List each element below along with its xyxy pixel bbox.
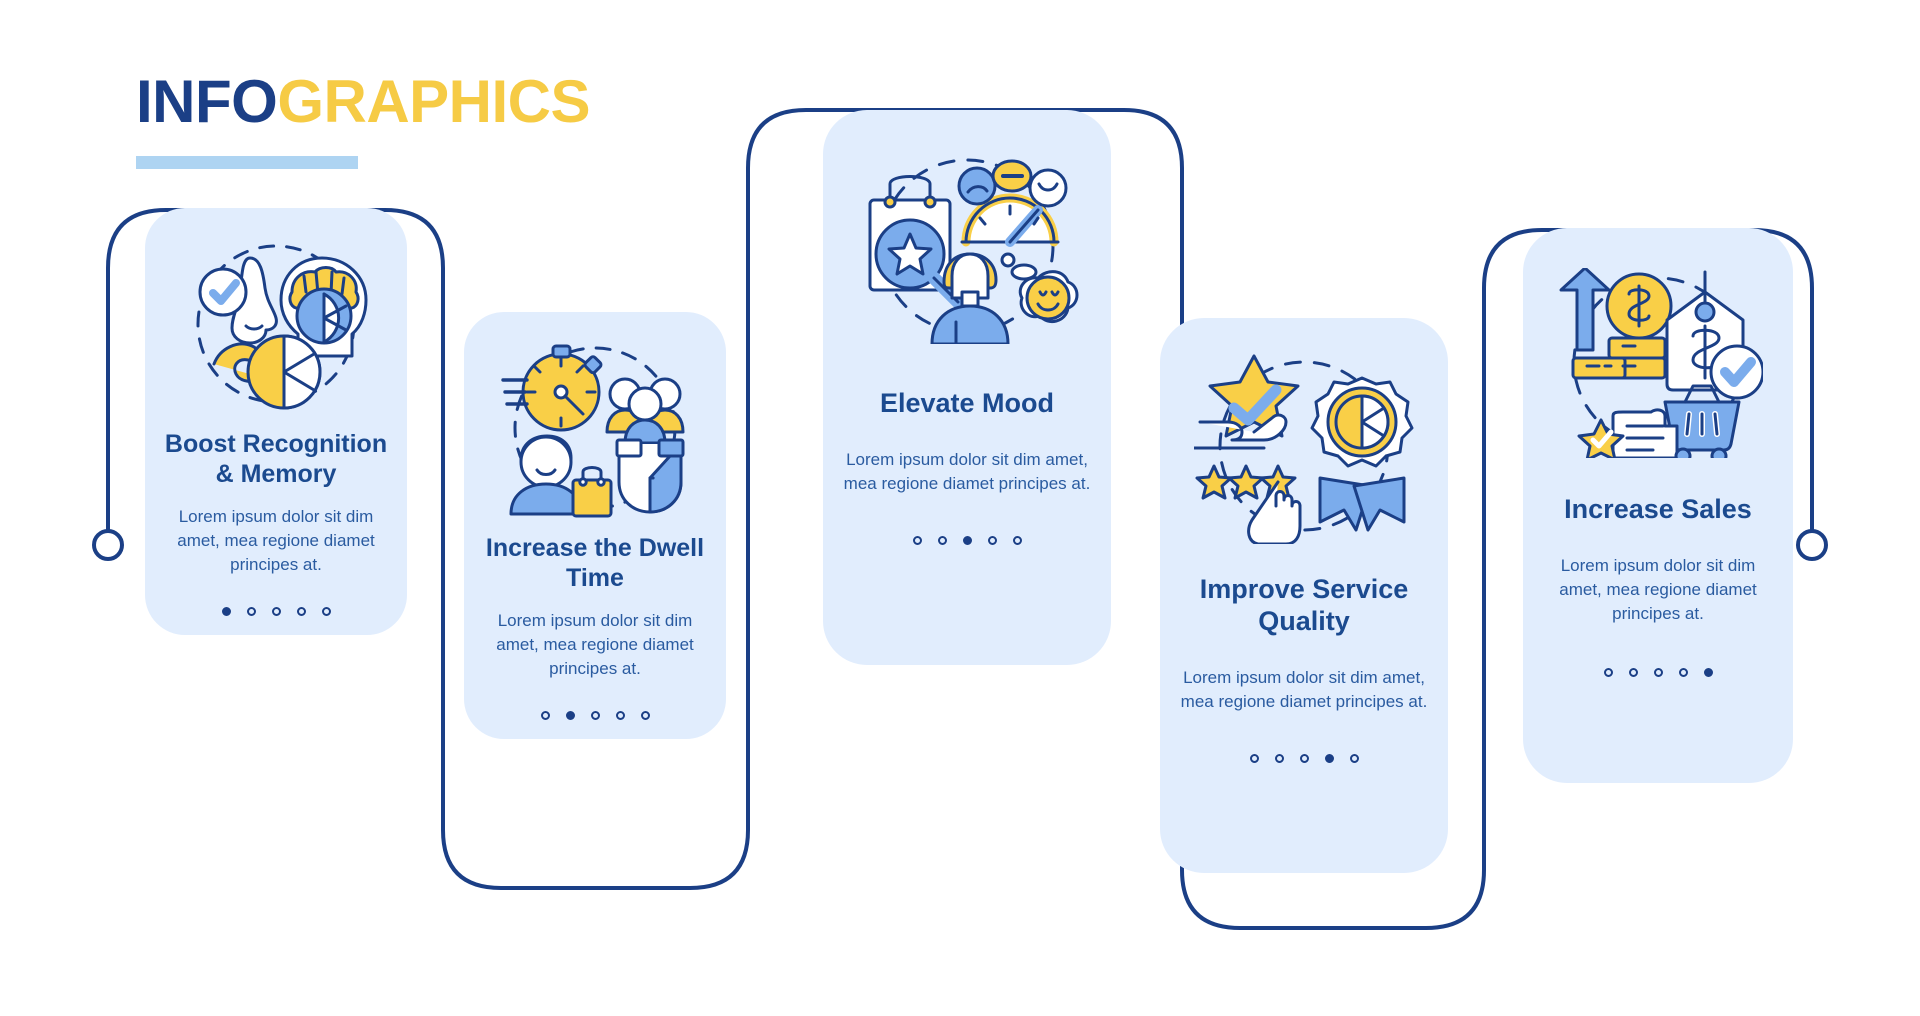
step-card-4[interactable]: Improve Service Quality Lorem ipsum dolo… bbox=[1160, 318, 1448, 873]
card-1-step-dots[interactable] bbox=[214, 607, 339, 616]
step-card-3[interactable]: Elevate Mood Lorem ipsum dolor sit dim a… bbox=[823, 110, 1111, 665]
step-dot-3[interactable] bbox=[1300, 754, 1309, 763]
card-3-illustration bbox=[852, 154, 1082, 344]
step-dot-4[interactable] bbox=[1679, 668, 1688, 677]
step-dot-1[interactable] bbox=[913, 536, 922, 545]
step-dot-4[interactable] bbox=[1325, 754, 1334, 763]
card-5-step-dots[interactable] bbox=[1596, 668, 1721, 677]
step-dot-2[interactable] bbox=[247, 607, 256, 616]
step-dot-2[interactable] bbox=[1275, 754, 1284, 763]
step-dot-1[interactable] bbox=[222, 607, 231, 616]
step-dot-4[interactable] bbox=[297, 607, 306, 616]
card-2-title: Increase the Dwell Time bbox=[464, 534, 726, 593]
step-dot-1[interactable] bbox=[1250, 754, 1259, 763]
step-dot-5[interactable] bbox=[1350, 754, 1359, 763]
title-underline bbox=[136, 156, 358, 169]
card-4-illustration bbox=[1194, 354, 1414, 544]
step-dot-4[interactable] bbox=[988, 536, 997, 545]
page-title-primary: INFO bbox=[136, 68, 277, 135]
card-5-body: Lorem ipsum dolor sit dim amet, mea regi… bbox=[1523, 554, 1793, 626]
card-4-step-dots[interactable] bbox=[1242, 754, 1367, 763]
connector-end-node bbox=[1798, 531, 1826, 559]
step-dot-3[interactable] bbox=[272, 607, 281, 616]
step-dot-5[interactable] bbox=[322, 607, 331, 616]
step-dot-2[interactable] bbox=[1629, 668, 1638, 677]
step-dot-5[interactable] bbox=[1704, 668, 1713, 677]
card-1-body: Lorem ipsum dolor sit dim amet, mea regi… bbox=[145, 505, 407, 577]
card-2-body: Lorem ipsum dolor sit dim amet, mea regi… bbox=[464, 609, 726, 681]
card-2-illustration bbox=[495, 340, 695, 520]
card-4-body: Lorem ipsum dolor sit dim amet, mea regi… bbox=[1160, 666, 1448, 714]
step-dot-3[interactable] bbox=[591, 711, 600, 720]
page-title: INFOGRAPHICS bbox=[136, 72, 590, 132]
step-dot-5[interactable] bbox=[1013, 536, 1022, 545]
card-3-step-dots[interactable] bbox=[905, 536, 1030, 545]
card-5-illustration bbox=[1553, 268, 1763, 458]
connector-start-node bbox=[94, 531, 122, 559]
step-dot-3[interactable] bbox=[1654, 668, 1663, 677]
step-dot-2[interactable] bbox=[938, 536, 947, 545]
step-dot-1[interactable] bbox=[1604, 668, 1613, 677]
step-dot-4[interactable] bbox=[616, 711, 625, 720]
page-header: INFOGRAPHICS bbox=[136, 72, 590, 169]
step-dot-3[interactable] bbox=[963, 536, 972, 545]
card-2-step-dots[interactable] bbox=[533, 711, 658, 720]
step-card-5[interactable]: Increase Sales Lorem ipsum dolor sit dim… bbox=[1523, 228, 1793, 783]
infographic-canvas: INFOGRAPHICS bbox=[0, 0, 1920, 1016]
card-5-title: Increase Sales bbox=[1550, 494, 1766, 526]
card-1-title: Boost Recognition & Memory bbox=[145, 430, 407, 489]
card-3-title: Elevate Mood bbox=[866, 388, 1068, 420]
step-dot-1[interactable] bbox=[541, 711, 550, 720]
step-card-2[interactable]: Increase the Dwell Time Lorem ipsum dolo… bbox=[464, 312, 726, 739]
step-card-1[interactable]: Boost Recognition & Memory Lorem ipsum d… bbox=[145, 208, 407, 635]
page-title-secondary: GRAPHICS bbox=[277, 68, 590, 135]
step-dot-5[interactable] bbox=[641, 711, 650, 720]
card-3-body: Lorem ipsum dolor sit dim amet, mea regi… bbox=[823, 448, 1111, 496]
card-1-illustration bbox=[176, 236, 376, 416]
step-dot-2[interactable] bbox=[566, 711, 575, 720]
card-4-title: Improve Service Quality bbox=[1160, 574, 1448, 638]
